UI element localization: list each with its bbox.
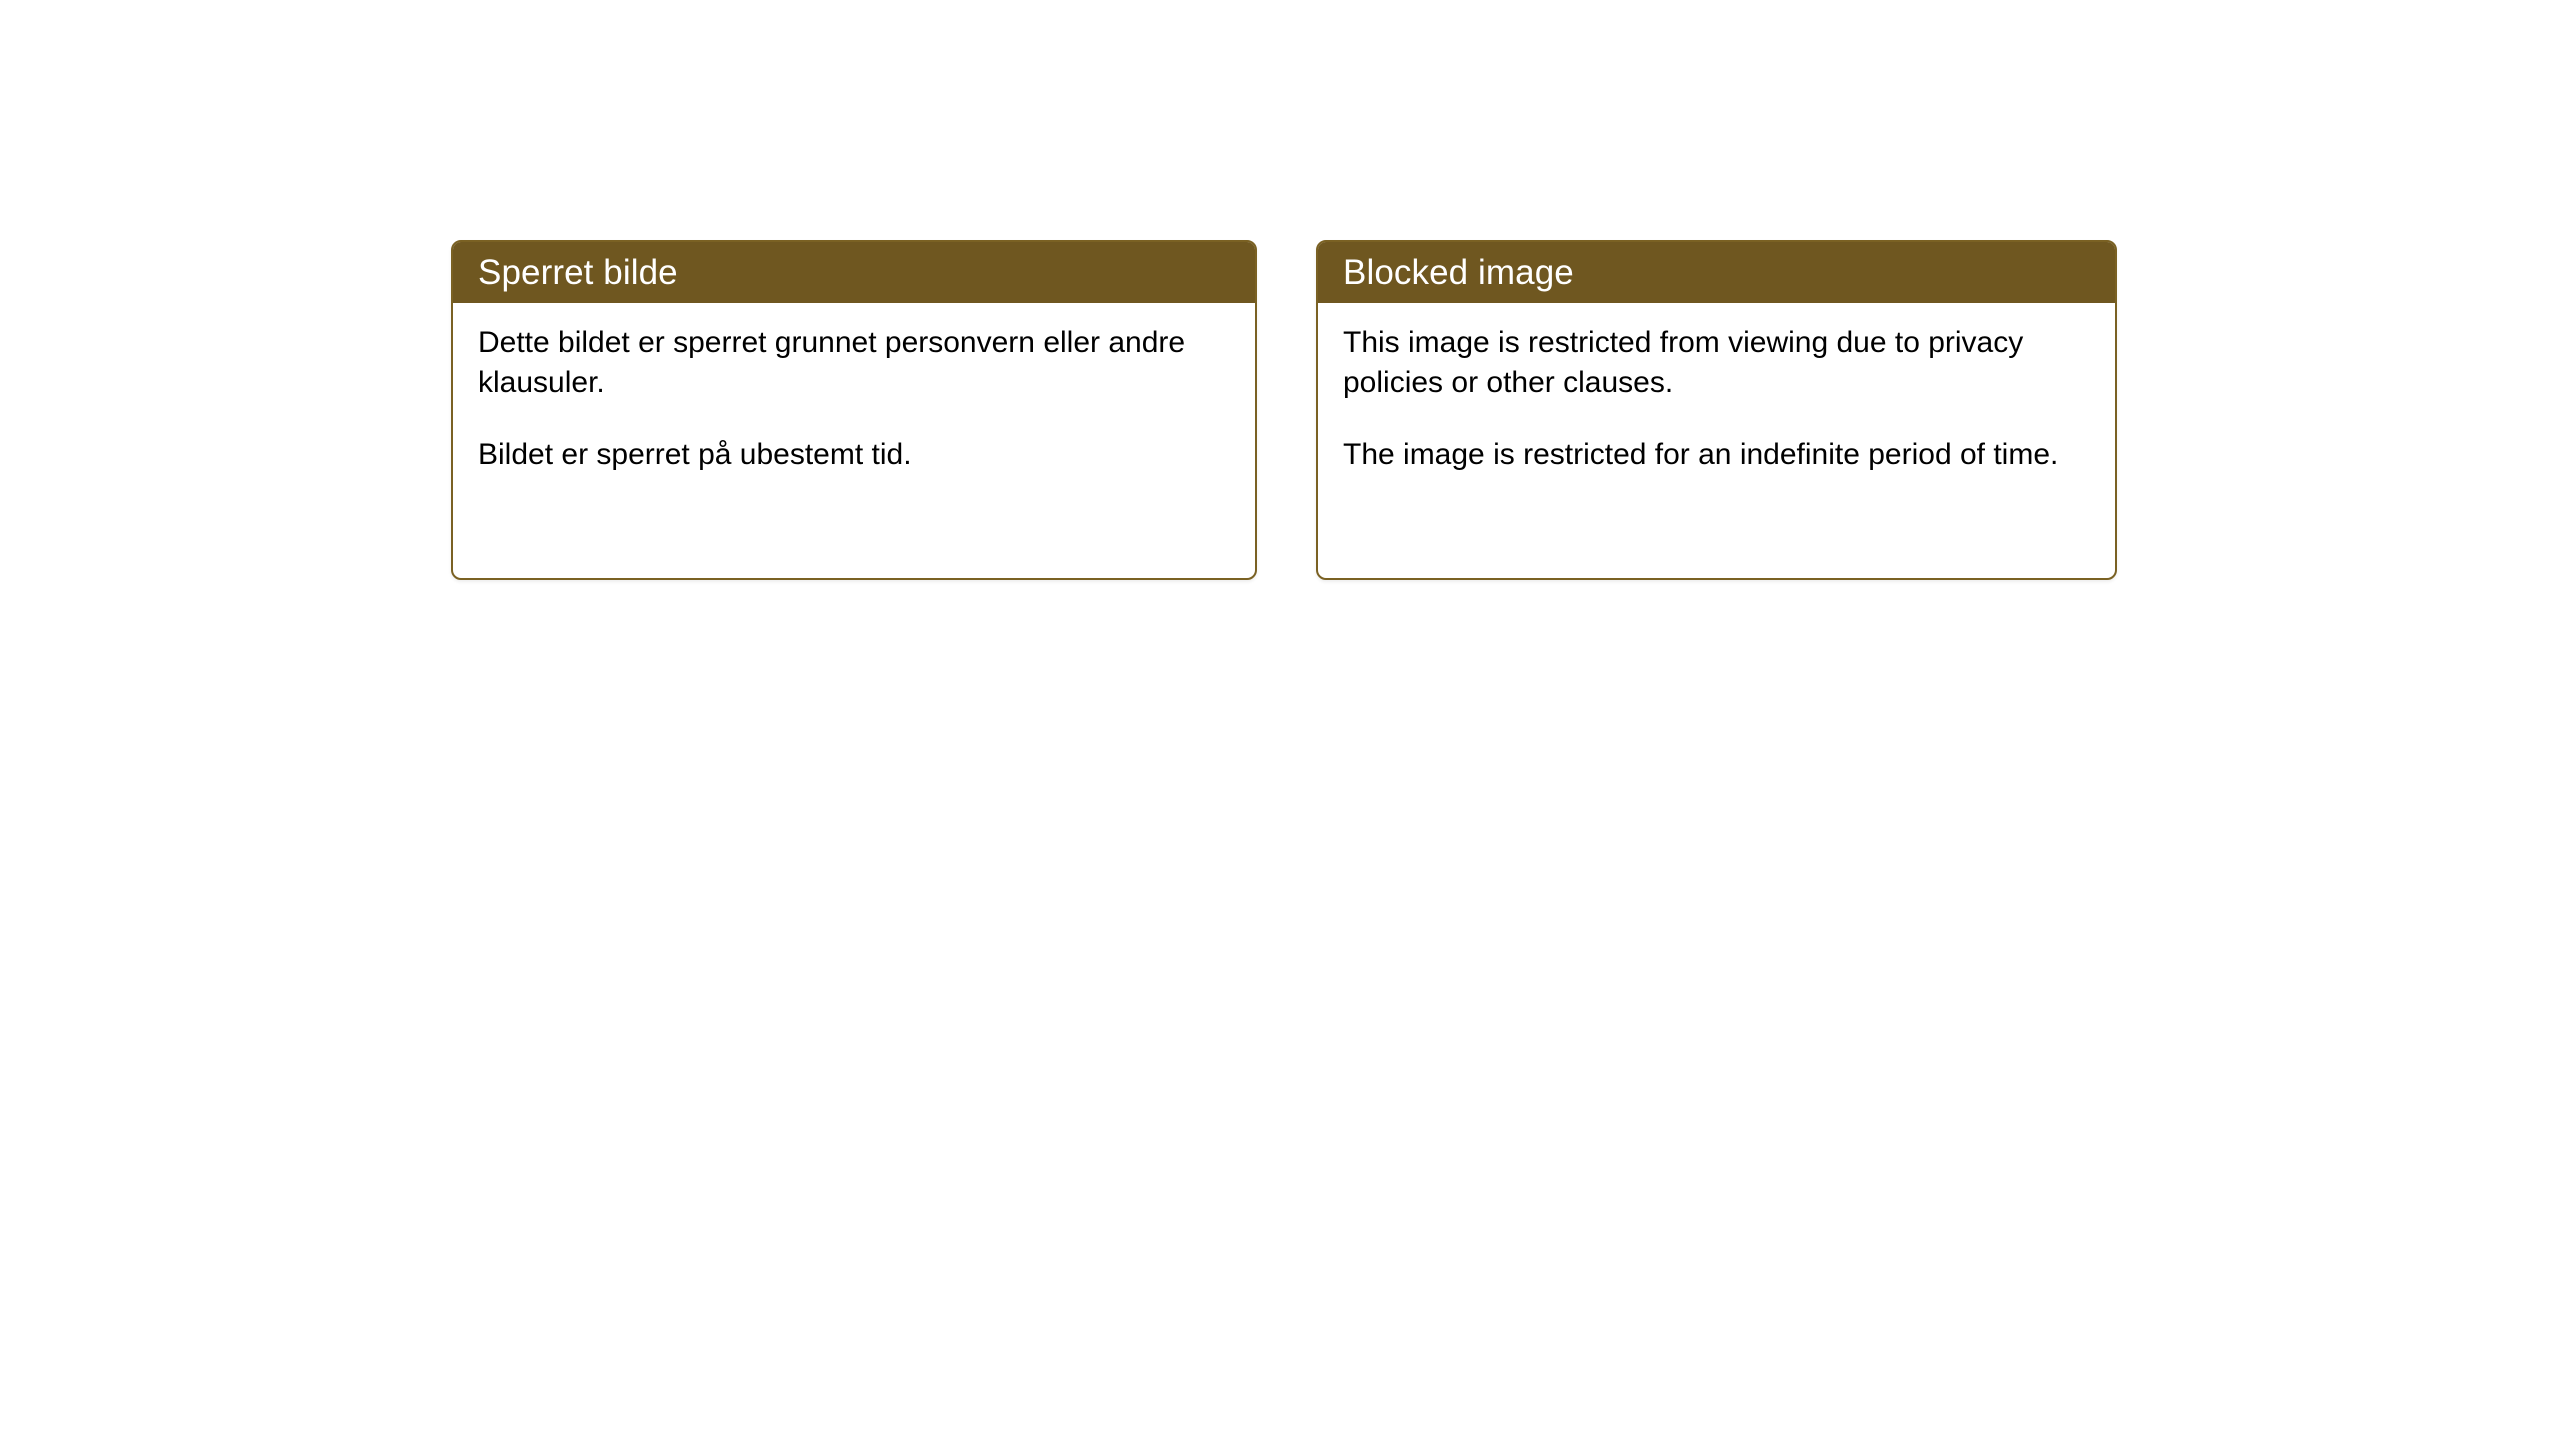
card-header-english: Blocked image: [1318, 242, 2115, 303]
card-paragraph-secondary-english: The image is restricted for an indefinit…: [1343, 435, 2091, 475]
card-paragraph-primary-norwegian: Dette bildet er sperret grunnet personve…: [478, 323, 1231, 402]
paragraph-spacer: [1343, 402, 2091, 435]
card-body-english: This image is restricted from viewing du…: [1318, 303, 2115, 475]
card-header-norwegian: Sperret bilde: [453, 242, 1255, 303]
card-title-norwegian: Sperret bilde: [478, 255, 678, 290]
card-paragraph-primary-english: This image is restricted from viewing du…: [1343, 323, 2091, 402]
card-body-norwegian: Dette bildet er sperret grunnet personve…: [453, 303, 1255, 475]
blocked-image-notice-english: Blocked image This image is restricted f…: [1316, 240, 2117, 580]
card-title-english: Blocked image: [1343, 255, 1574, 290]
page-canvas: Sperret bilde Dette bildet er sperret gr…: [0, 0, 2560, 1440]
paragraph-spacer: [478, 402, 1231, 435]
blocked-image-notice-norwegian: Sperret bilde Dette bildet er sperret gr…: [451, 240, 1257, 580]
card-paragraph-secondary-norwegian: Bildet er sperret på ubestemt tid.: [478, 435, 1231, 475]
